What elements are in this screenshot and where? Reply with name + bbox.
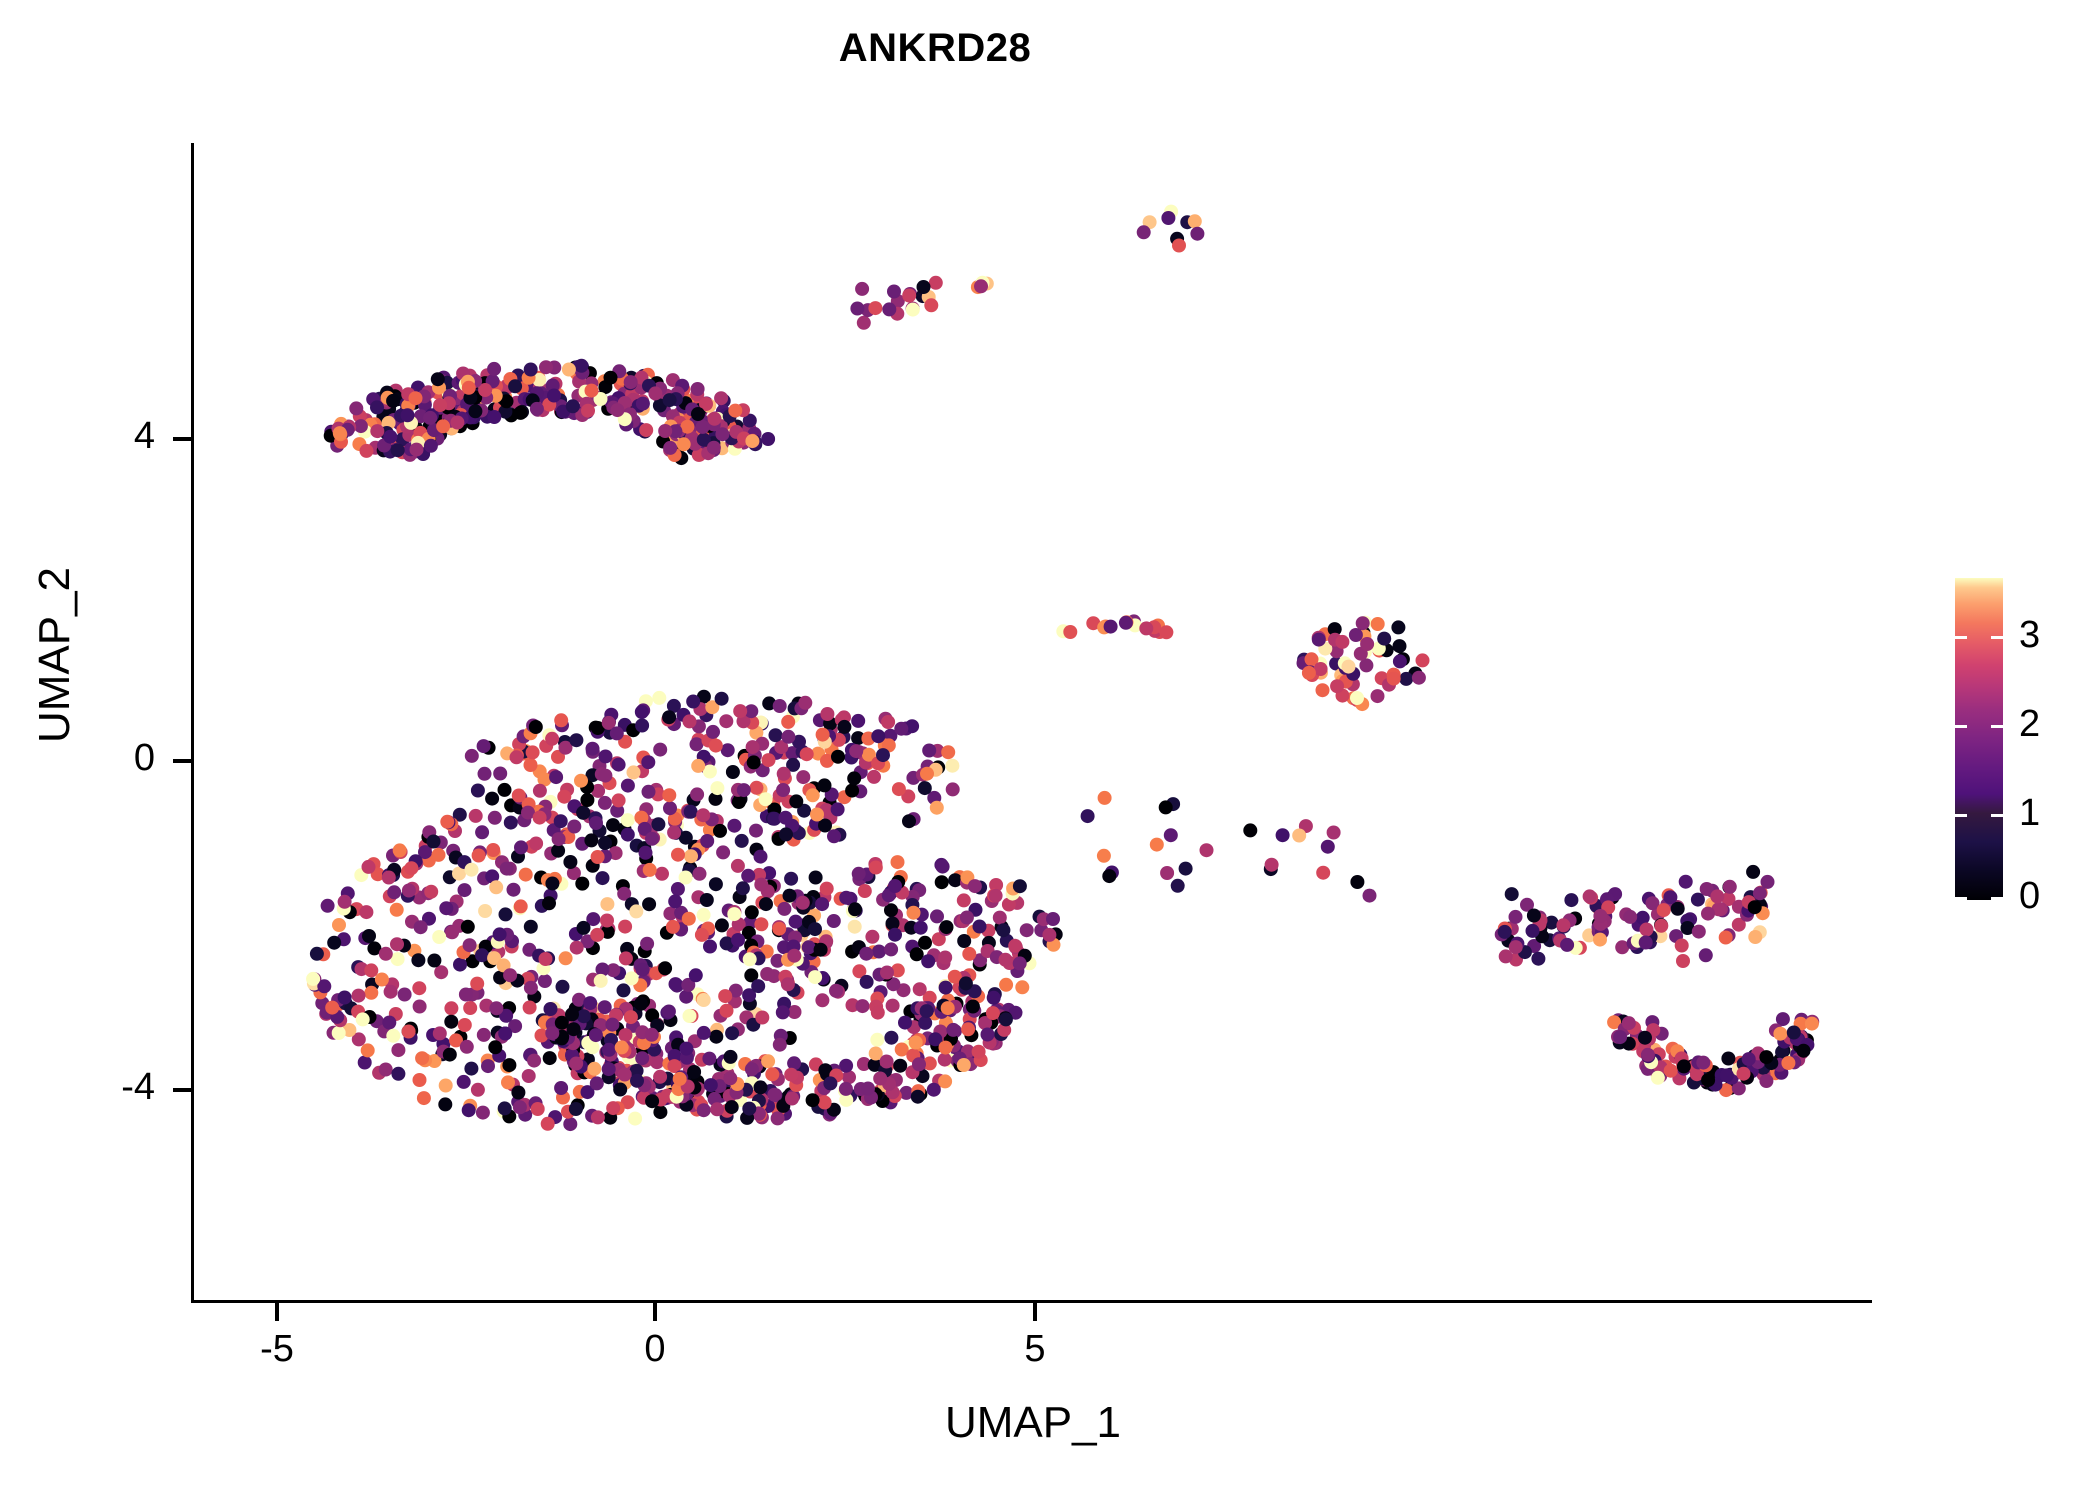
scatter-point <box>666 920 680 934</box>
scatter-point <box>653 1070 667 1084</box>
scatter-point <box>800 747 814 761</box>
scatter-point <box>731 933 745 947</box>
scatter-point <box>1613 1030 1627 1044</box>
scatter-point <box>1593 909 1607 923</box>
scatter-point <box>524 363 538 377</box>
scatter-point <box>619 951 633 965</box>
scatter-point <box>746 740 760 754</box>
scatter-point <box>499 907 513 921</box>
scatter-point <box>488 811 502 825</box>
scatter-point <box>504 816 518 830</box>
scatter-point <box>1190 227 1204 241</box>
scatter-point <box>777 767 791 781</box>
scatter-point <box>475 825 489 839</box>
scatter-point <box>860 975 874 989</box>
scatter-point <box>671 848 685 862</box>
scatter-point <box>707 441 721 455</box>
scatter-point <box>1622 1016 1636 1030</box>
scatter-point <box>512 789 526 803</box>
scatter-point <box>544 1002 558 1016</box>
scatter-point <box>1350 691 1364 705</box>
scatter-point <box>759 792 773 806</box>
scatter-point <box>627 765 641 779</box>
scatter-point <box>645 832 659 846</box>
scatter-point <box>946 1023 960 1037</box>
scatter-point <box>333 426 347 440</box>
scatter-point <box>409 391 423 405</box>
scatter-point <box>524 920 538 934</box>
scatter-point <box>999 953 1013 967</box>
scatter-point <box>957 934 971 948</box>
scatter-point <box>514 406 528 420</box>
scatter-point <box>798 696 812 710</box>
scatter-point <box>600 897 614 911</box>
scatter-point <box>750 781 764 795</box>
scatter-point <box>779 811 793 825</box>
scatter-point <box>696 808 710 822</box>
scatter-point <box>771 1111 785 1125</box>
scatter-point <box>987 991 1001 1005</box>
scatter-point <box>912 1057 926 1071</box>
scatter-point <box>617 983 631 997</box>
scatter-point <box>1179 862 1193 876</box>
scatter-point <box>577 1009 591 1023</box>
scatter-point <box>432 848 446 862</box>
scatter-point <box>968 879 982 893</box>
scatter-point <box>1097 849 1111 863</box>
scatter-point <box>662 710 676 724</box>
scatter-point <box>404 861 418 875</box>
scatter-point <box>554 713 568 727</box>
scatter-point <box>563 855 577 869</box>
scatter-point <box>941 1001 955 1015</box>
scatter-point <box>580 793 594 807</box>
scatter-point <box>913 982 927 996</box>
scatter-point <box>881 715 895 729</box>
scatter-point <box>598 769 612 783</box>
colorbar-tick-0-right <box>1991 897 2003 900</box>
scatter-point <box>957 1058 971 1072</box>
scatter-point <box>1172 239 1186 253</box>
scatter-point <box>814 943 828 957</box>
scatter-point <box>362 860 376 874</box>
scatter-point <box>545 1026 559 1040</box>
scatter-point <box>554 814 568 828</box>
scatter-point <box>747 755 761 769</box>
scatter-point <box>1638 1031 1652 1045</box>
scatter-point <box>902 814 916 828</box>
scatter-point <box>635 719 649 733</box>
scatter-point <box>628 1112 642 1126</box>
colorbar-label-1: 1 <box>2019 794 2040 832</box>
scatter-point <box>332 918 346 932</box>
scatter-point <box>604 371 618 385</box>
scatter-point <box>1371 689 1385 703</box>
scatter-point <box>735 834 749 848</box>
scatter-point <box>655 867 669 881</box>
scatter-point <box>596 871 610 885</box>
scatter-point <box>930 909 944 923</box>
scatter-point <box>618 1068 632 1082</box>
scatter-point <box>671 882 685 896</box>
scatter-point <box>1292 829 1306 843</box>
scatter-point <box>461 920 475 934</box>
y-tick-label--4: -4 <box>35 1068 155 1106</box>
scatter-point <box>542 896 556 910</box>
scatter-point <box>773 699 787 713</box>
scatter-point <box>938 1074 952 1088</box>
scatter-point <box>789 794 803 808</box>
scatter-point <box>690 787 704 801</box>
scatter-point <box>610 403 624 417</box>
scatter-point <box>523 1001 537 1015</box>
scatter-point <box>884 942 898 956</box>
scatter-point <box>736 881 750 895</box>
colorbar-label-0: 0 <box>2019 877 2040 915</box>
scatter-point <box>643 863 657 877</box>
scatter-point <box>639 846 653 860</box>
scatter-point <box>948 873 962 887</box>
scatter-point <box>918 781 932 795</box>
scatter-point <box>920 1004 934 1018</box>
scatter-point <box>444 1001 458 1015</box>
scatter-point <box>1748 930 1762 944</box>
scatter-point <box>1243 823 1257 837</box>
scatter-point <box>379 1063 393 1077</box>
scatter-point <box>1171 879 1185 893</box>
scatter-point <box>1721 1052 1735 1066</box>
scatter-point <box>858 884 872 898</box>
scatter-point <box>741 869 755 883</box>
x-tick-mark-0 <box>653 1303 657 1321</box>
scatter-point <box>547 389 561 403</box>
scatter-point <box>808 970 822 984</box>
scatter-point <box>498 783 512 797</box>
scatter-point <box>605 1018 619 1032</box>
scatter-point <box>1664 1064 1678 1078</box>
scatter-point <box>686 695 700 709</box>
scatter-point <box>927 1083 941 1097</box>
scatter-point <box>725 1026 739 1040</box>
scatter-point <box>668 894 682 908</box>
scatter-point <box>445 925 459 939</box>
scatter-point <box>1723 880 1737 894</box>
scatter-point <box>935 875 949 889</box>
scatter-point <box>599 750 613 764</box>
scatter-point <box>615 1040 629 1054</box>
scatter-point <box>869 861 883 875</box>
y-tick-label-4: 4 <box>35 417 155 455</box>
scatter-point <box>587 1062 601 1076</box>
scatter-point <box>1321 840 1335 854</box>
scatter-point <box>488 1040 502 1054</box>
scatter-point <box>600 914 614 928</box>
scatter-point <box>524 758 538 772</box>
scatter-point <box>390 937 404 951</box>
scatter-point <box>432 930 446 944</box>
scatter-point <box>413 1073 427 1087</box>
scatter-point <box>612 758 626 772</box>
scatter-point <box>1679 875 1693 889</box>
scatter-point <box>431 372 445 386</box>
scatter-point <box>715 692 729 706</box>
scatter-point <box>1761 875 1775 889</box>
scatter-point <box>785 1092 799 1106</box>
scatter-point <box>640 937 654 951</box>
scatter-point <box>713 824 727 838</box>
scatter-point <box>697 908 711 922</box>
scatter-point <box>589 816 603 830</box>
scatter-point <box>704 1078 718 1092</box>
scatter-point <box>884 1031 898 1045</box>
scatter-point <box>436 419 450 433</box>
scatter-point <box>1360 637 1374 651</box>
scatter-point <box>453 958 467 972</box>
scatter-point <box>941 745 955 759</box>
scatter-point <box>1042 928 1056 942</box>
scatter-point <box>379 947 393 961</box>
scatter-point <box>855 282 869 296</box>
scatter-point <box>999 978 1013 992</box>
scatter-point <box>1759 1074 1773 1088</box>
scatter-point <box>1330 679 1344 693</box>
scatter-point <box>1015 980 1029 994</box>
scatter-point <box>624 375 638 389</box>
scatter-point <box>625 971 639 985</box>
scatter-point <box>710 781 724 795</box>
scatter-point <box>669 977 683 991</box>
scatter-point <box>697 1103 711 1117</box>
scatter-point <box>723 1071 737 1085</box>
scatter-point <box>621 779 635 793</box>
scatter-point <box>796 770 810 784</box>
scatter-point <box>412 981 426 995</box>
scatter-point <box>850 302 864 316</box>
scatter-point <box>689 968 703 982</box>
scatter-point <box>584 833 598 847</box>
scatter-point <box>818 778 832 792</box>
scatter-point <box>691 407 705 421</box>
scatter-point <box>806 1093 820 1107</box>
scatter-point <box>634 997 648 1011</box>
scatter-point <box>871 1006 885 1020</box>
scatter-point <box>831 750 845 764</box>
scatter-point <box>911 1090 925 1104</box>
scatter-point <box>703 940 717 954</box>
scatter-point <box>1081 809 1095 823</box>
scatter-point <box>691 382 705 396</box>
scatter-point <box>673 1072 687 1086</box>
scatter-point <box>679 1042 693 1056</box>
scatter-point <box>1200 843 1214 857</box>
scatter-point <box>545 877 559 891</box>
scatter-point <box>470 977 484 991</box>
scatter-point <box>1276 828 1290 842</box>
scatter-point <box>690 737 704 751</box>
scatter-point <box>635 705 649 719</box>
scatter-point <box>1509 910 1523 924</box>
scatter-point <box>680 420 694 434</box>
scatter-point <box>1063 625 1077 639</box>
scatter-point <box>929 276 943 290</box>
scatter-point <box>486 843 500 857</box>
x-tick-label-0: 0 <box>595 1330 715 1368</box>
scatter-point <box>538 974 552 988</box>
scatter-point <box>594 974 608 988</box>
scatter-point <box>590 1076 604 1090</box>
scatter-point <box>1746 865 1760 879</box>
scatter-point <box>789 915 803 929</box>
scatter-point <box>761 432 775 446</box>
scatter-point <box>924 298 938 312</box>
scatter-point <box>829 984 843 998</box>
scatter-point <box>839 1082 853 1096</box>
scatter-point <box>872 945 886 959</box>
scatter-point <box>808 922 822 936</box>
scatter-point <box>450 416 464 430</box>
scatter-point <box>1696 1056 1710 1070</box>
scatter-point <box>508 379 522 393</box>
scatter-point <box>868 301 882 315</box>
scatter-point <box>677 437 691 451</box>
scatter-point <box>1399 672 1413 686</box>
scatter-point <box>1639 936 1653 950</box>
scatter-point <box>569 1102 583 1116</box>
scatter-point <box>787 949 801 963</box>
scatter-point <box>338 895 352 909</box>
colorbar-tick-2-right <box>1991 725 2003 728</box>
plot-panel <box>194 143 1872 1300</box>
scatter-point <box>402 1025 416 1039</box>
scatter-point <box>719 714 733 728</box>
scatter-point <box>861 1082 875 1096</box>
x-tick-label-5: 5 <box>975 1330 1095 1368</box>
scatter-point <box>352 989 366 1003</box>
scatter-point <box>1350 875 1364 889</box>
scatter-point <box>1159 800 1173 814</box>
scatter-point <box>1335 635 1349 649</box>
scatter-point <box>1161 211 1175 225</box>
scatter-point <box>598 836 612 850</box>
scatter-point <box>610 726 624 740</box>
scatter-point <box>472 849 486 863</box>
scatter-point <box>531 1102 545 1116</box>
scatter-point <box>914 921 928 935</box>
scatter-point <box>1675 939 1689 953</box>
scatter-point <box>1393 654 1407 668</box>
scatter-point <box>754 850 768 864</box>
scatter-point <box>867 770 881 784</box>
scatter-point <box>423 411 437 425</box>
scatter-point <box>720 1004 734 1018</box>
scatter-point <box>709 877 723 891</box>
scatter-point <box>514 840 528 854</box>
scatter-point <box>510 750 524 764</box>
scatter-point <box>630 1074 644 1088</box>
colorbar-tick-1-left <box>1955 814 1967 817</box>
scatter-point <box>356 1012 370 1026</box>
colorbar-tick-0-left <box>1955 897 1967 900</box>
scatter-point <box>1139 621 1153 635</box>
scatter-point <box>583 996 597 1010</box>
scatter-point <box>745 1062 759 1076</box>
x-tick-label--5: -5 <box>217 1330 337 1368</box>
scatter-point <box>918 936 932 950</box>
scatter-point <box>364 963 378 977</box>
scatter-point <box>641 755 655 769</box>
scatter-point <box>892 782 906 796</box>
scatter-point <box>945 759 959 773</box>
scatter-point <box>684 849 698 863</box>
scatter-point <box>957 893 971 907</box>
scatter-point <box>1013 956 1027 970</box>
scatter-point <box>1623 910 1637 924</box>
scatter-point <box>556 980 570 994</box>
scatter-point <box>737 783 751 797</box>
scatter-point <box>767 1088 781 1102</box>
scatter-point <box>591 850 605 864</box>
scatter-point <box>477 739 491 753</box>
scatter-point <box>642 785 656 799</box>
scatter-point <box>810 808 824 822</box>
scatter-point <box>851 714 865 728</box>
scatter-point <box>1651 1071 1665 1085</box>
scatter-point <box>471 784 485 798</box>
scatter-point <box>848 920 862 934</box>
scatter-point <box>569 1057 583 1071</box>
scatter-point <box>700 893 714 907</box>
scatter-point <box>999 1012 1013 1026</box>
scatter-point <box>754 1080 768 1094</box>
scatter-point <box>1498 925 1512 939</box>
scatter-point <box>398 988 412 1002</box>
scatter-point <box>802 940 816 954</box>
scatter-point <box>1265 858 1279 872</box>
scatter-point <box>383 430 397 444</box>
scatter-point <box>1102 869 1116 883</box>
scatter-point <box>873 1072 887 1086</box>
scatter-point <box>443 1048 457 1062</box>
scatter-point <box>478 767 492 781</box>
scatter-point <box>349 401 363 415</box>
scatter-point <box>612 793 626 807</box>
scatter-point <box>765 1067 779 1081</box>
scatter-point <box>514 899 528 913</box>
scatter-point <box>772 922 786 936</box>
scatter-point <box>1046 912 1060 926</box>
scatter-point <box>816 728 830 742</box>
scatter-point <box>1526 924 1540 938</box>
scatter-point <box>382 1016 396 1030</box>
scatter-point <box>636 963 650 977</box>
scatter-point <box>552 832 566 846</box>
y-axis-label: UMAP_2 <box>30 495 80 815</box>
scatter-point <box>414 920 428 934</box>
scatter-point <box>776 783 790 797</box>
scatter-point <box>576 806 590 820</box>
scatter-point <box>716 845 730 859</box>
scatter-point <box>989 889 1003 903</box>
scatter-point <box>1773 1027 1787 1041</box>
scatter-point <box>439 1079 453 1093</box>
scatter-point <box>358 1056 372 1070</box>
scatter-point <box>727 819 741 833</box>
scatter-point <box>1719 931 1733 945</box>
scatter-point <box>715 918 729 932</box>
y-tick-mark-4 <box>173 437 191 441</box>
scatter-point <box>1787 1026 1801 1040</box>
colorbar-tick-2-left <box>1955 725 1967 728</box>
